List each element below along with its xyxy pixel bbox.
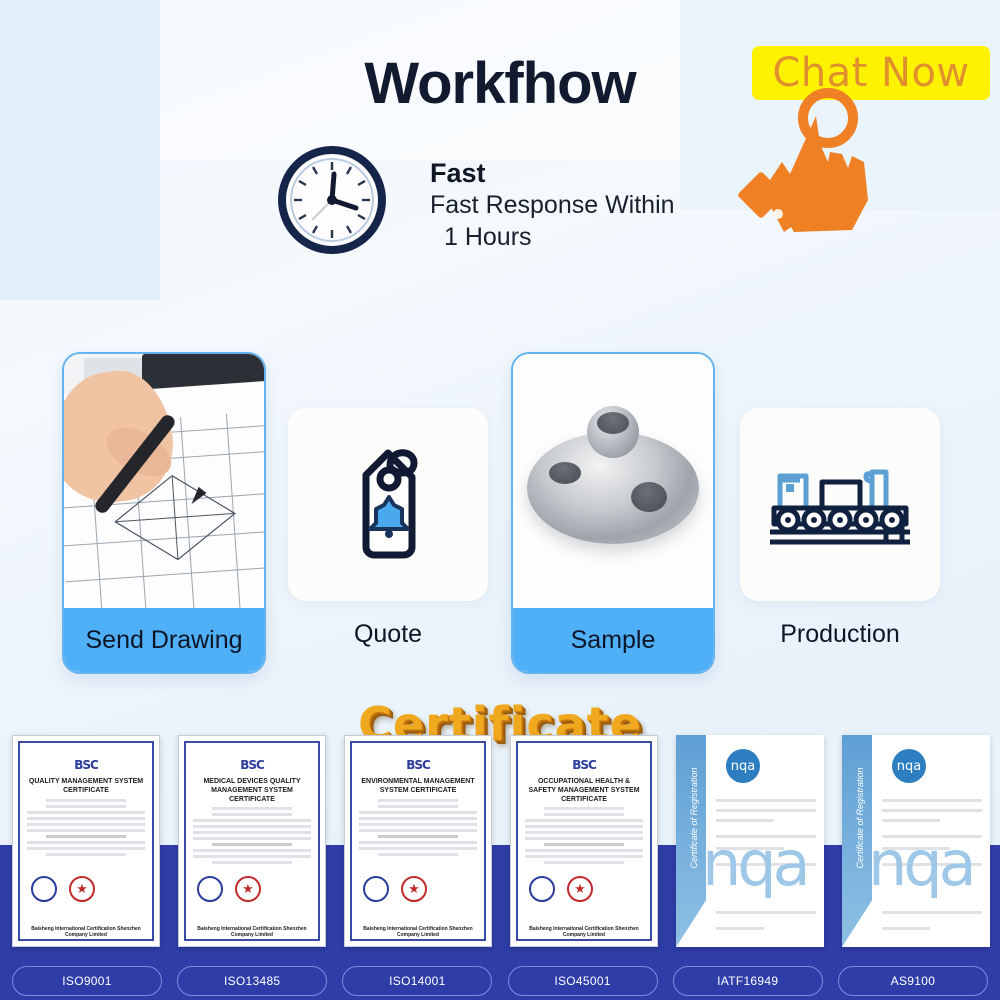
certificate-footer: Baisheng International Certification She… bbox=[187, 926, 317, 938]
workflow-card-label: Sample bbox=[513, 608, 713, 672]
certificate-badge[interactable]: ISO14001 bbox=[342, 966, 492, 996]
certificate-side-text: Certificate of Registration bbox=[855, 738, 865, 898]
fast-description: Fast Response Within 1 Hours bbox=[430, 189, 675, 253]
workflow-card-send-drawing[interactable]: Send Drawing bbox=[62, 352, 266, 674]
certificate-badge[interactable]: ISO9001 bbox=[12, 966, 162, 996]
workflow-card-label: Production bbox=[740, 601, 940, 668]
certificate-badge[interactable]: ISO13485 bbox=[177, 966, 327, 996]
hand-drawing-blueprint-photo bbox=[64, 354, 264, 612]
certificate-item[interactable]: BSC OCCUPATIONAL HEALTH & SAFETY MANAGEM… bbox=[510, 735, 658, 947]
certificate-logo: nqa bbox=[892, 749, 926, 783]
workflow-card-label: Quote bbox=[288, 601, 488, 668]
certificate-item[interactable]: BSC ENVIRONMENTAL MANAGEMENT SYSTEM CERT… bbox=[344, 735, 492, 947]
workflow-cards: Send Drawing Quote bbox=[0, 340, 1000, 690]
workflow-card-production[interactable]: Production bbox=[740, 408, 940, 668]
pointing-hand-icon bbox=[756, 82, 906, 242]
certificate-badge[interactable]: ISO45001 bbox=[508, 966, 658, 996]
certificate-watermark: nqa bbox=[702, 827, 807, 900]
certificate-badge[interactable]: AS9100 bbox=[838, 966, 988, 996]
machined-metal-part-photo bbox=[513, 354, 713, 612]
workflow-card-quote[interactable]: Quote bbox=[288, 408, 488, 668]
clock-icon bbox=[278, 146, 386, 254]
certificate-item[interactable]: BSC QUALITY MANAGEMENT SYSTEM CERTIFICAT… bbox=[12, 735, 160, 947]
certificate-side-text: Certificate of Registration bbox=[689, 738, 699, 898]
certificate-footer: Baisheng International Certification She… bbox=[519, 926, 649, 938]
workflow-page: Workfhow Chat Now bbox=[0, 0, 1000, 1000]
fast-line-2: 1 Hours bbox=[430, 221, 675, 253]
certificate-badge-list: ISO9001 ISO13485 ISO14001 ISO45001 IATF1… bbox=[0, 962, 1000, 1000]
certificate-gallery: BSC QUALITY MANAGEMENT SYSTEM CERTIFICAT… bbox=[0, 735, 1000, 950]
certificate-footer: Baisheng International Certification She… bbox=[353, 926, 483, 938]
certificate-badge[interactable]: IATF16949 bbox=[673, 966, 823, 996]
certificate-watermark: nqa bbox=[868, 827, 973, 900]
certificate-item[interactable]: BSC MEDICAL DEVICES QUALITY MANAGEMENT S… bbox=[178, 735, 326, 947]
certificate-footer: Baisheng International Certification She… bbox=[21, 926, 151, 938]
production-train-machine-icon bbox=[740, 408, 940, 601]
price-tag-bell-icon bbox=[288, 408, 488, 601]
fast-title: Fast bbox=[430, 158, 675, 189]
certificate-item[interactable]: Certificate of Registration nqa nqa bbox=[842, 735, 990, 947]
workflow-card-label: Send Drawing bbox=[64, 608, 264, 672]
fast-info-block: Fast Fast Response Within 1 Hours bbox=[430, 158, 675, 253]
certificate-logo: nqa bbox=[726, 749, 760, 783]
workflow-card-sample[interactable]: Sample bbox=[511, 352, 715, 674]
background-pane-left bbox=[0, 0, 160, 300]
certificate-item[interactable]: Certificate of Registration nqa nqa bbox=[676, 735, 824, 947]
fast-line-1: Fast Response Within bbox=[430, 191, 675, 219]
